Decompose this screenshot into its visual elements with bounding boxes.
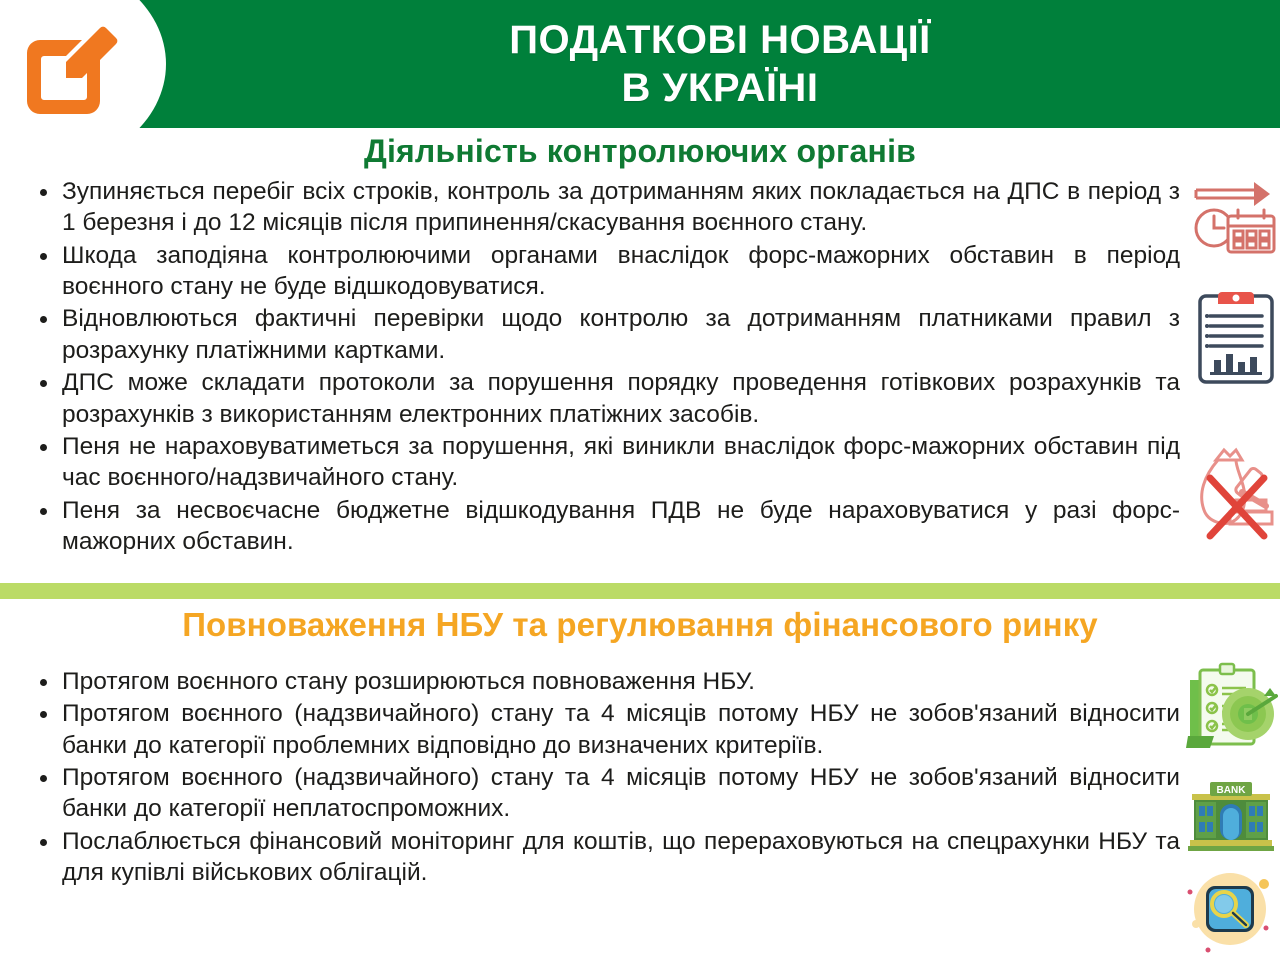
list-item: Відновлюються фактичні перевірки щодо ко… bbox=[28, 303, 1180, 366]
list-item-text: ДПС може складати протоколи за порушення… bbox=[62, 369, 1180, 427]
page-title-line2: В УКРАЇНІ bbox=[180, 64, 1260, 112]
bank-building-icon: BANK bbox=[1186, 778, 1276, 854]
list-item: Протягом воєнного стану розширюються пов… bbox=[28, 666, 1180, 697]
list-item: Зупиняється перебіг всіх строків, контро… bbox=[28, 176, 1180, 239]
list-item: Шкода заподіяна контролюючими органами в… bbox=[28, 240, 1180, 303]
list-item-text: Шкода заподіяна контролюючими органами в… bbox=[62, 242, 1180, 300]
list-item-text: Протягом воєнного стану розширюються пов… bbox=[62, 668, 755, 695]
magnifier-search-icon bbox=[1178, 862, 1278, 956]
list-item-text: Послаблюється фінансовий моніторинг для … bbox=[62, 828, 1180, 886]
infographic-poster: ПОДАТКОВІ НОВАЦІЇ В УКРАЇНІ Діяльність к… bbox=[0, 0, 1280, 960]
list-item-text: Зупиняється перебіг всіх строків, контро… bbox=[62, 178, 1180, 236]
no-penalty-money-gavel-icon bbox=[1196, 442, 1278, 542]
list-item: Протягом воєнного (надзвичайного) стану … bbox=[28, 762, 1180, 825]
list-item-text: Протягом воєнного (надзвичайного) стану … bbox=[62, 700, 1180, 758]
clipboard-report-icon bbox=[1196, 286, 1276, 386]
list-item-text: Пеня не нараховуватиметься за порушення,… bbox=[62, 433, 1180, 491]
section-divider-band bbox=[0, 583, 1280, 599]
bullet-list-nbu-powers: Протягом воєнного стану розширюються пов… bbox=[28, 666, 1180, 890]
list-item-text: Пеня за несвоєчасне бюджетне відшкодуван… bbox=[62, 497, 1180, 555]
poster-header: ПОДАТКОВІ НОВАЦІЇ В УКРАЇНІ bbox=[0, 0, 1280, 128]
list-item-text: Протягом воєнного (надзвичайного) стану … bbox=[62, 764, 1180, 822]
list-item-text: Відновлюються фактичні перевірки щодо ко… bbox=[62, 305, 1180, 363]
list-item: ДПС може складати протоколи за порушення… bbox=[28, 367, 1180, 430]
svg-text:BANK: BANK bbox=[1217, 785, 1247, 796]
section-title-controlling-bodies: Діяльність контролюючих органів bbox=[0, 132, 1280, 170]
section-title-nbu-powers: Повноваження НБУ та регулювання фінансов… bbox=[0, 605, 1280, 645]
list-item: Пеня за несвоєчасне бюджетне відшкодуван… bbox=[28, 495, 1180, 558]
bullet-list-controlling-bodies: Зупиняється перебіг всіх строків, контро… bbox=[28, 176, 1180, 558]
page-title-line1: ПОДАТКОВІ НОВАЦІЇ bbox=[509, 18, 930, 62]
edit-document-icon bbox=[22, 14, 126, 114]
page-title: ПОДАТКОВІ НОВАЦІЇ В УКРАЇНІ bbox=[180, 16, 1260, 112]
clock-calendar-arrow-icon bbox=[1192, 176, 1278, 256]
list-item: Послаблюється фінансовий моніторинг для … bbox=[28, 826, 1180, 889]
list-item: Пеня не нараховуватиметься за порушення,… bbox=[28, 431, 1180, 494]
list-item: Протягом воєнного (надзвичайного) стану … bbox=[28, 698, 1180, 761]
checklist-target-icon bbox=[1182, 658, 1278, 760]
